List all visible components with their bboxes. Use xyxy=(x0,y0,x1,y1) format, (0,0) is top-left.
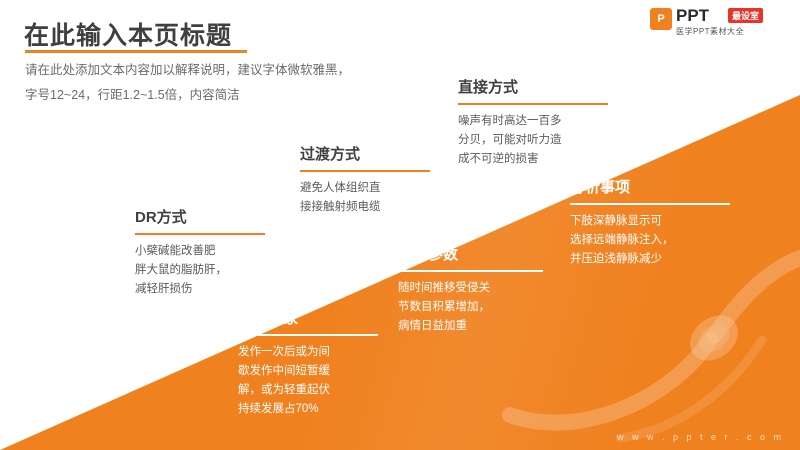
block-body: 小檗碱能改善肥 胖大鼠的脂肪肝， 减轻肝损伤 xyxy=(135,242,265,299)
block-direct-method: 直接方式 噪声有时高达一百多 分贝，可能对听力造 成不可逆的损害 xyxy=(458,76,608,169)
block-rule xyxy=(238,334,378,336)
block-body-line: 发作一次后或为间 xyxy=(238,343,378,362)
block-body-line: 歇发作中间短暂缓 xyxy=(238,362,378,381)
block-dr-method: DR方式 小檗碱能改善肥 胖大鼠的脂肪肝， 减轻肝损伤 xyxy=(135,206,265,299)
block-body-line: 小檗碱能改善肥 xyxy=(135,242,265,261)
block-body: 避免人体组织直 接接触射频电缆 xyxy=(300,179,430,217)
title-underline xyxy=(25,50,247,53)
page-subtitle: 请在此处添加文本内容加以解释说明，建议字体微软雅黑， 字号12~24，行距1.2… xyxy=(25,58,445,108)
block-body-line: 避免人体组织直 xyxy=(300,179,430,198)
brand-logo: P PPT 最设室 医学PPT素材大全 xyxy=(650,6,790,40)
page-title: 在此输入本页标题 xyxy=(24,16,232,52)
block-body-line: 噪声有时高达一百多 xyxy=(458,112,608,131)
block-title: 直接方式 xyxy=(458,76,608,97)
block-title: 过渡方式 xyxy=(300,143,430,164)
subtitle-line-1: 请在此处添加文本内容加以解释说明，建议字体微软雅黑， xyxy=(25,58,445,83)
block-body: 下肢深静脉显示可 选择远端静脉注入， 并压迫浅静脉减少 xyxy=(570,212,730,269)
logo-badge-icon: P xyxy=(650,8,672,30)
block-body-line: 选择远端静脉注入， xyxy=(570,231,730,250)
block-body-line: 持续发展占70% xyxy=(238,400,378,419)
block-body: 随时间推移受侵关 节数目积累增加， 病情日益加重 xyxy=(398,279,543,336)
logo-tag: 最设室 xyxy=(728,8,763,23)
block-body-line: 下肢深静脉显示可 xyxy=(570,212,730,231)
block-body-line: 减轻肝损伤 xyxy=(135,280,265,299)
subtitle-line-2: 字号12~24，行距1.2~1.5倍，内容简洁 xyxy=(25,83,445,108)
block-body-line: 随时间推移受侵关 xyxy=(398,279,543,298)
block-rule xyxy=(570,203,730,205)
block-title: 扫描参数 xyxy=(398,243,543,264)
block-transition-method: 过渡方式 避免人体组织直 接接触射频电缆 xyxy=(300,143,430,217)
block-rule xyxy=(398,270,543,272)
block-analysis-items: 分析事项 下肢深静脉显示可 选择远端静脉注入， 并压迫浅静脉减少 xyxy=(570,176,730,269)
block-body-line: 病情日益加重 xyxy=(398,317,543,336)
block-title: 分析事项 xyxy=(570,176,730,197)
block-scan-parameters: 扫描参数 随时间推移受侵关 节数目积累增加， 病情日益加重 xyxy=(398,243,543,336)
block-body-line: 并压迫浅静脉减少 xyxy=(570,250,730,269)
block-body-line: 接接触射频电缆 xyxy=(300,198,430,217)
block-rule xyxy=(300,170,430,172)
block-body: 噪声有时高达一百多 分贝，可能对听力造 成不可逆的损害 xyxy=(458,112,608,169)
block-title: DR方式 xyxy=(135,206,265,227)
logo-subtitle: 医学PPT素材大全 xyxy=(676,26,744,37)
block-rule xyxy=(135,233,265,235)
block-body: 发作一次后或为间 歇发作中间短暂缓 解，或为轻重起伏 持续发展占70% xyxy=(238,343,378,419)
block-body-line: 节数目积累增加， xyxy=(398,298,543,317)
logo-name: PPT xyxy=(676,6,709,26)
block-rule xyxy=(458,103,608,105)
watermark: w w w . p p t e r . c o m xyxy=(617,432,784,442)
block-body-line: 解，或为轻重起伏 xyxy=(238,381,378,400)
block-body-line: 胖大鼠的脂肪肝， xyxy=(135,261,265,280)
slide-canvas: 在此输入本页标题 请在此处添加文本内容加以解释说明，建议字体微软雅黑， 字号12… xyxy=(0,0,800,450)
block-body-line: 分贝，可能对听力造 xyxy=(458,131,608,150)
block-title: 直接征象 xyxy=(238,307,378,328)
block-body-line: 成不可逆的损害 xyxy=(458,150,608,169)
block-direct-sign: 直接征象 发作一次后或为间 歇发作中间短暂缓 解，或为轻重起伏 持续发展占70% xyxy=(238,307,378,419)
